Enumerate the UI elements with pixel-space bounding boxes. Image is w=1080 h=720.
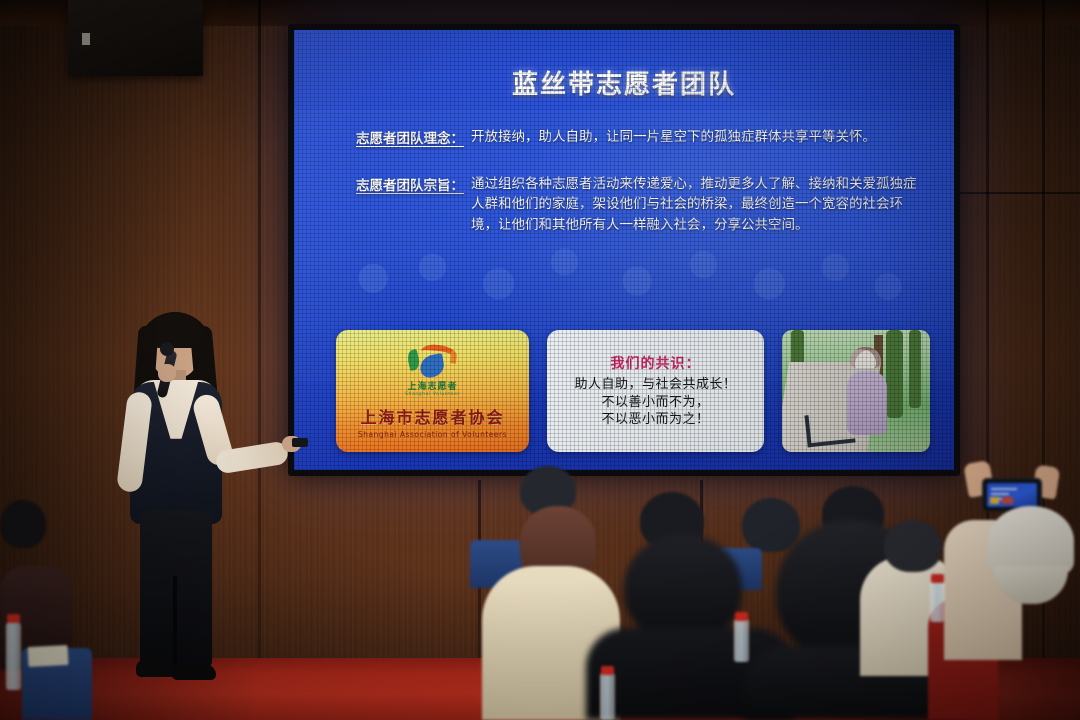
slide-paragraph: 志愿者团队宗旨： 通过组织各种志愿者活动来传递爱心，推动更多人了解、接纳和关爱孤…: [320, 174, 928, 236]
water-bottle[interactable]: [734, 618, 749, 662]
cyclist-body: [847, 371, 887, 435]
bottle-cap: [735, 612, 748, 621]
paragraph-body: 通过组织各种志愿者活动来传递爱心，推动更多人了解、接纳和关爱孤独症人群和他们的家…: [464, 174, 928, 236]
phone-screen: [987, 483, 1037, 507]
led-display-frame: 蓝丝带志愿者团队 志愿者团队理念： 开放接纳，助人自助，让同一片星空下的孤独症群…: [288, 24, 960, 476]
volunteer-logo-icon: [401, 344, 465, 378]
logo-text-cn: 上海志愿者: [407, 379, 457, 392]
presentation-slide: 蓝丝带志愿者团队 志愿者团队理念： 开放接纳，助人自助，让同一片星空下的孤独症群…: [294, 30, 954, 470]
helmet-icon: [850, 347, 881, 368]
association-logo-panel: 上海志愿者 Shanghai Volunteer 上海市志愿者协会 Shangh…: [336, 330, 529, 452]
led-display: 蓝丝带志愿者团队 志愿者团队理念： 开放接纳，助人自助，让同一片星空下的孤独症群…: [294, 30, 954, 470]
water-bottle[interactable]: [6, 622, 21, 690]
motto-heading: 我们的共识：: [611, 353, 701, 373]
bottle-cap: [7, 614, 20, 623]
leaf-icon: [405, 348, 421, 370]
paragraph-label: 志愿者团队理念：: [356, 127, 464, 148]
presentation-clicker[interactable]: [292, 438, 308, 447]
motto-line: 不以善小而不为，: [601, 394, 709, 411]
paragraph-body: 开放接纳，助人自助，让同一片星空下的孤独症群体共享平等关怀。: [464, 127, 876, 148]
microphone-head-icon: [160, 342, 174, 356]
water-bottle[interactable]: [930, 580, 945, 622]
slide-paragraph: 志愿者团队理念： 开放接纳，助人自助，让同一片星空下的孤独症群体共享平等关怀。: [320, 127, 928, 148]
presenter-shoe: [172, 664, 216, 680]
water-bottle[interactable]: [600, 672, 615, 720]
cyclist-photo-panel: [782, 330, 930, 452]
speaker-indicator-icon: [82, 33, 90, 45]
wall-seam: [1042, 0, 1045, 720]
organization-name-en: Shanghai Association of Volunteers: [358, 430, 507, 439]
paragraph-label: 志愿者团队宗旨：: [356, 174, 464, 236]
bottle-cap: [931, 574, 944, 583]
presenter-speaker: [96, 308, 311, 698]
audience-head: [624, 534, 742, 640]
tree-shape: [886, 330, 903, 418]
logo-text-en: Shanghai Volunteer: [405, 392, 460, 397]
presenter-leg-gap: [173, 576, 177, 666]
paper-handout[interactable]: [28, 645, 69, 667]
audience-head: [884, 520, 942, 572]
presenter-shoe: [136, 660, 176, 677]
tree-shape: [909, 330, 921, 408]
organization-name-cn: 上海市志愿者协会: [360, 404, 504, 428]
audience-head: [742, 498, 800, 552]
presentation-scene: 蓝丝带志愿者团队 志愿者团队理念： 开放接纳，助人自助，让同一片星空下的孤独症群…: [0, 0, 1080, 720]
wall-speaker: [68, 0, 203, 76]
presenter-hand-left: [158, 364, 176, 382]
bottle-cap: [601, 666, 614, 675]
audience-head: [0, 500, 46, 548]
presenter-hair-front: [148, 314, 203, 348]
consensus-motto-panel: 我们的共识： 助人自助，与社会共成长！ 不以善小而不为， 不以恶小而为之！: [547, 330, 764, 452]
slide-panel-row: 上海志愿者 Shanghai Volunteer 上海市志愿者协会 Shangh…: [336, 330, 930, 452]
motto-line: 助人自助，与社会共成长！: [574, 376, 736, 393]
motto-line: 不以恶小而为之！: [601, 411, 709, 428]
wall-seam-horizontal: [960, 192, 1080, 194]
slide-title: 蓝丝带志愿者团队: [320, 64, 928, 101]
